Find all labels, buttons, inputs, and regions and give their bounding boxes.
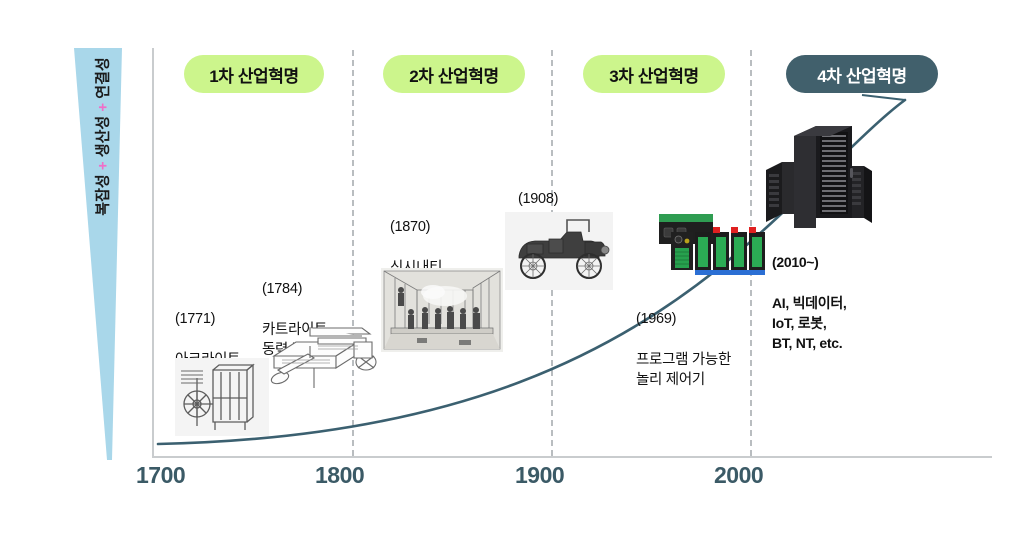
milestone-year-1870: (1870) <box>390 219 430 235</box>
x-tick-1700: 1700 <box>136 462 185 489</box>
era-badge-3[interactable]: 3차 산업혁명 <box>583 55 725 93</box>
milestone-year-1969: (1969) <box>636 311 676 327</box>
plc-controller-image <box>655 196 775 276</box>
y-axis-wedge <box>74 48 130 460</box>
milestone-name-1969: 프로그램 가능한 놀리 제어기 <box>636 352 731 389</box>
era-badge-4[interactable]: 4차 산업혁명 <box>786 55 938 93</box>
slaughterhouse-image <box>381 268 503 352</box>
server-rack-image <box>760 110 880 228</box>
spinning-frame-image <box>175 358 269 436</box>
x-tick-2000: 2000 <box>714 462 763 489</box>
infographic-canvas: 복잡성 + 생산성 + 연결성 1700 1800 1900 2000 1차 산… <box>0 0 1024 538</box>
milestone-year-1771: (1771) <box>175 311 215 327</box>
x-tick-1800: 1800 <box>315 462 364 489</box>
milestone-year-1784: (1784) <box>262 281 302 297</box>
ford-model-t-image <box>505 212 613 290</box>
era-badge-1[interactable]: 1차 산업혁명 <box>184 55 324 93</box>
milestone-year-1908: (1908) <box>518 191 558 207</box>
power-loom-image <box>258 322 384 398</box>
milestone-label-1969: (1969) 프로그램 가능한 놀리 제어기 <box>636 288 786 391</box>
x-axis-line <box>152 456 992 458</box>
y-axis-line <box>152 48 154 458</box>
era-badge-2[interactable]: 2차 산업혁명 <box>383 55 525 93</box>
milestone-year-2010: (2010~) <box>772 254 819 270</box>
x-tick-1900: 1900 <box>515 462 564 489</box>
milestone-name-2010: AI, 빅데이터, IoT, 로봇, BT, NT, etc. <box>772 295 847 352</box>
milestone-label-2010: (2010~) AI, 빅데이터, IoT, 로봇, BT, NT, etc. <box>772 232 922 354</box>
